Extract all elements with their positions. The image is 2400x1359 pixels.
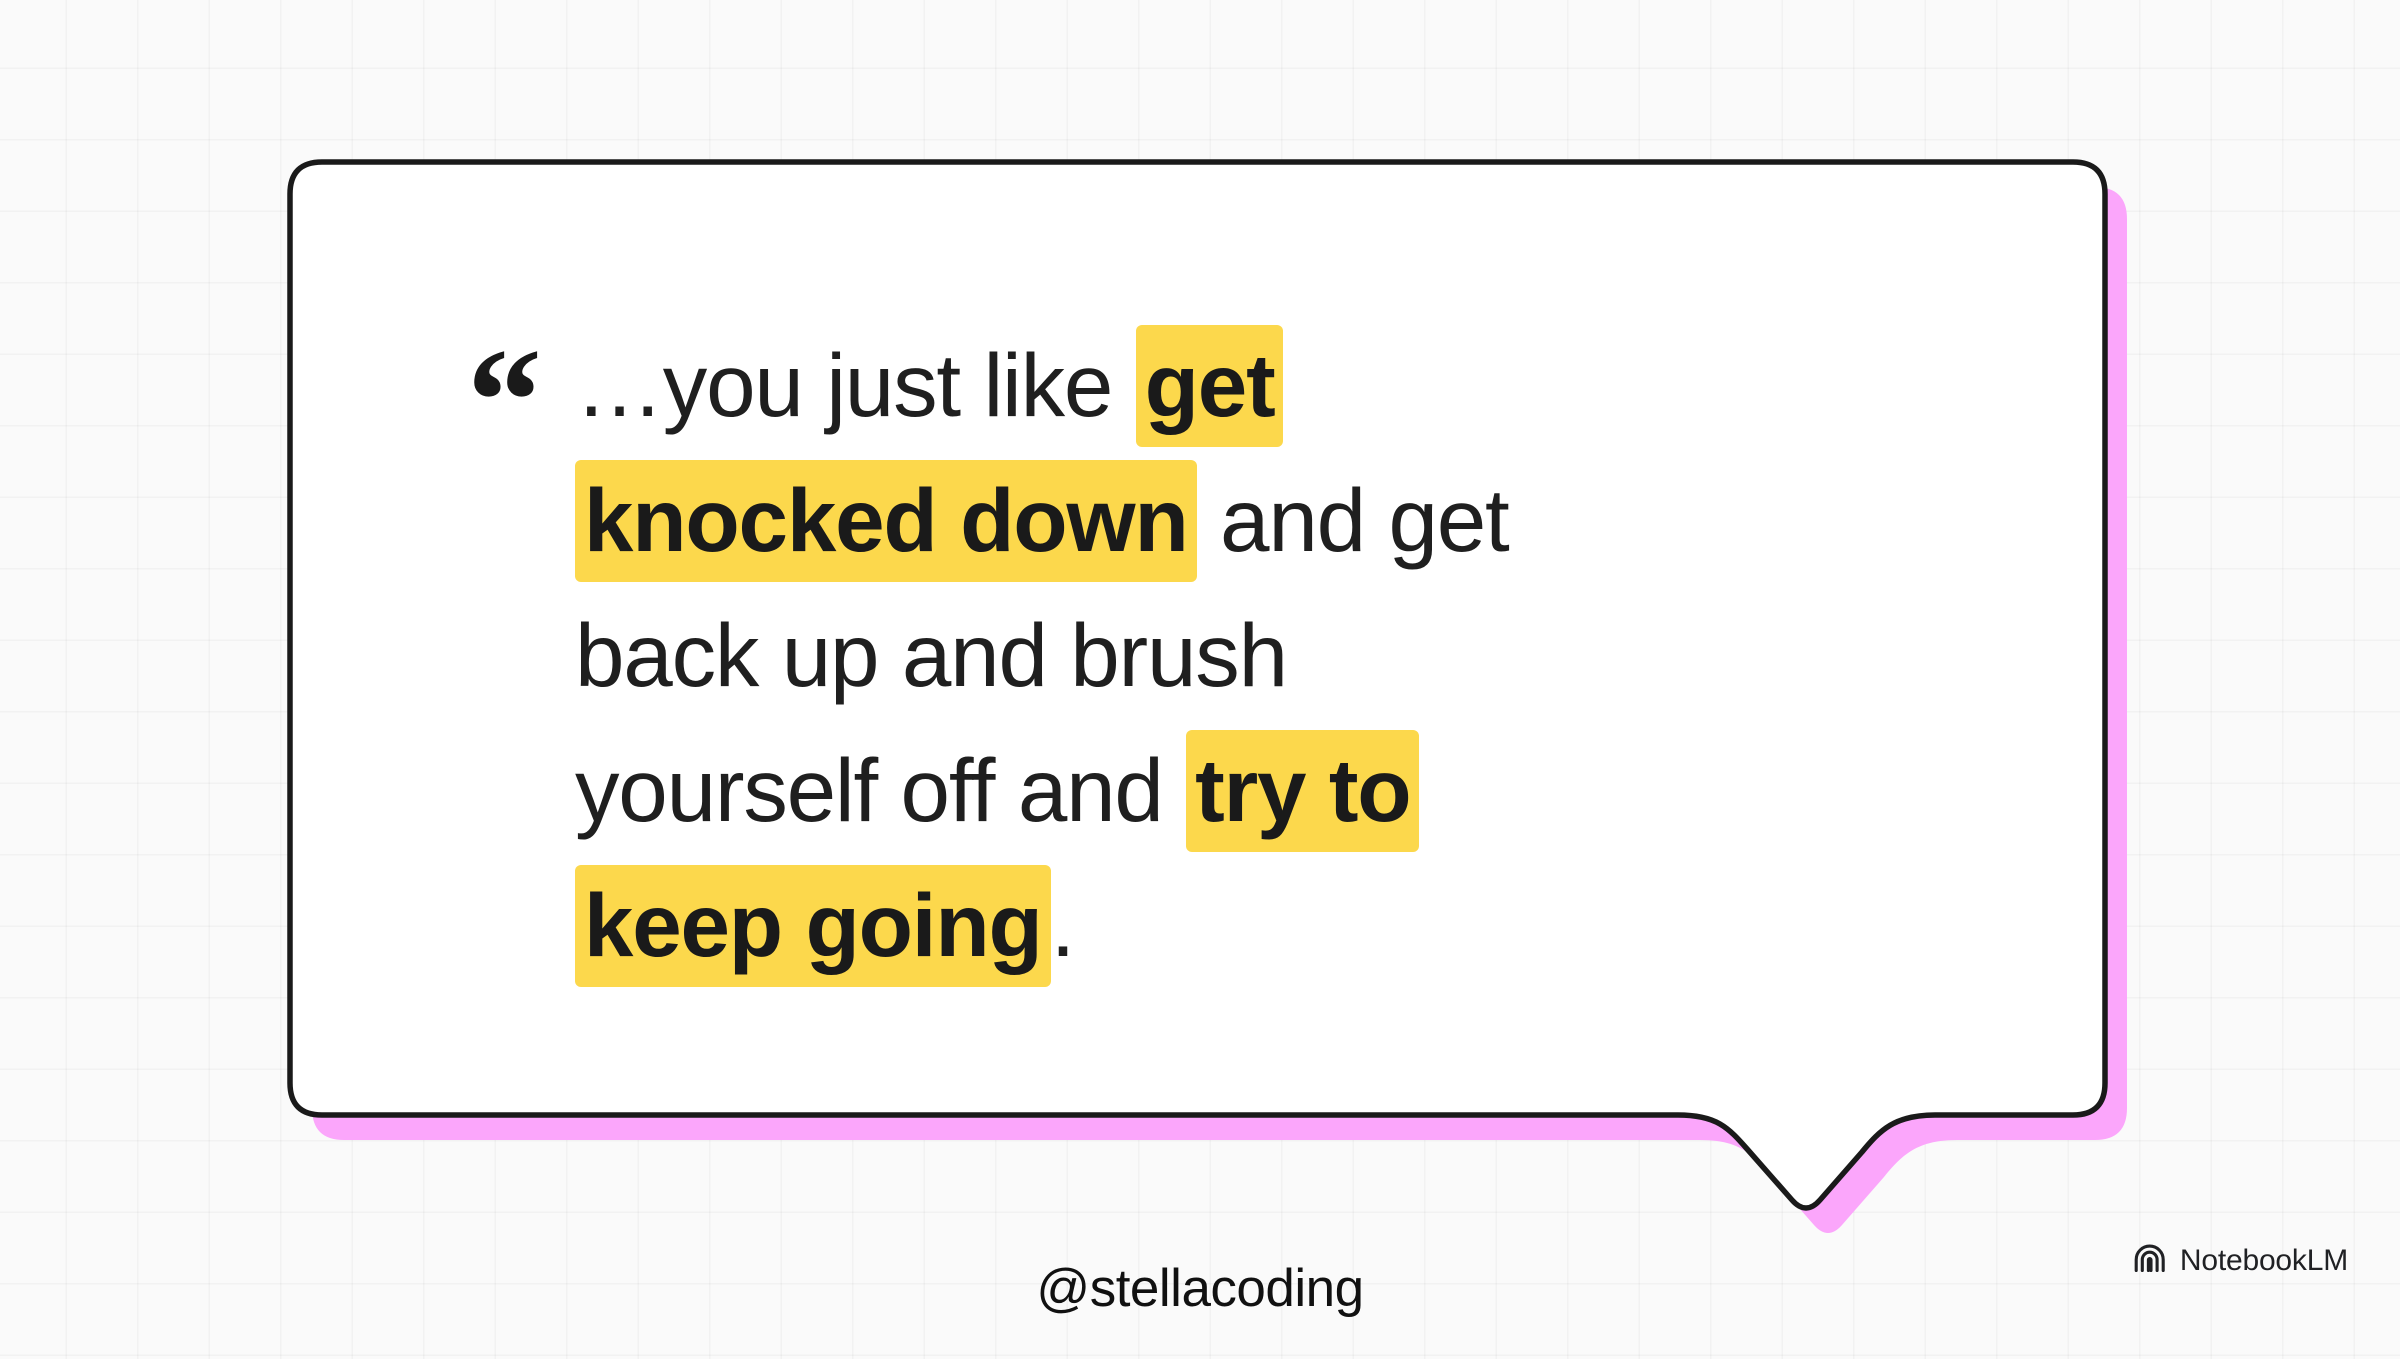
quote-line-1: …you just like get [575, 318, 1995, 453]
notebooklm-branding: NotebookLM [2133, 1243, 2348, 1278]
quote-line-5: keep going. [575, 858, 1995, 993]
quote-segment: …you just like [575, 335, 1136, 435]
notebooklm-label: NotebookLM [2180, 1246, 2348, 1276]
quote-line-2: knocked down and get [575, 453, 1995, 588]
quote-segment: back up and brush [575, 605, 1287, 705]
quote-line-3: back up and brush [575, 588, 1995, 723]
quote-highlight: try to [1186, 730, 1419, 852]
quote-highlight: get [1136, 325, 1284, 447]
social-handle: @stellacoding [0, 1258, 2400, 1319]
quote-card-stage: “ …you just like get knocked down and ge… [0, 0, 2400, 1359]
quote-line-4: yourself off and try to [575, 723, 1995, 858]
open-quote-icon: “ [467, 326, 540, 476]
notebooklm-arc-icon [2133, 1243, 2167, 1278]
quote-segment: yourself off and [575, 740, 1186, 840]
quote-highlight: keep going [575, 865, 1051, 987]
quote-text-block: “ …you just like get knocked down and ge… [575, 318, 1995, 993]
quote-highlight: knocked down [575, 460, 1197, 582]
quote-segment: . [1051, 875, 1075, 975]
quote-segment: and get [1197, 470, 1509, 570]
